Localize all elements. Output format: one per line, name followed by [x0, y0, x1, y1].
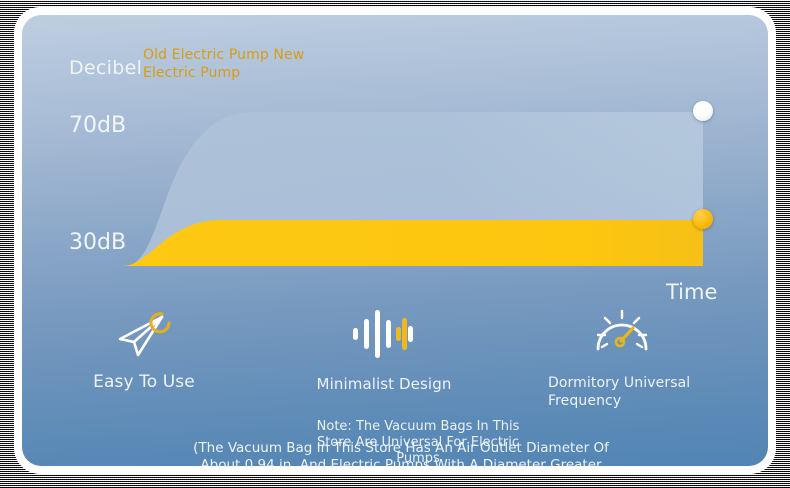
infographic-canvas: Decibel Old Electric Pump New Electric P…: [22, 15, 768, 466]
series-endpoint-marker-new-pump[interactable]: [693, 209, 713, 229]
audio-waveform-icon: [284, 303, 484, 365]
feature-label-easy-to-use: Easy To Use: [44, 373, 244, 391]
series-area-new-pump: [120, 220, 703, 266]
series-area-old-pump: [120, 112, 703, 266]
y-axis-tick-low: 30dB: [69, 230, 126, 255]
gauge-icon: [522, 303, 722, 365]
feature-row: Easy To Use: [22, 303, 768, 413]
white-card-frame: Decibel Old Electric Pump New Electric P…: [14, 7, 776, 474]
feature-label-dormitory-universal-frequency: Dormitory Universal Frequency: [548, 374, 696, 410]
paper-plane-icon: [44, 303, 244, 365]
chart-legend-label: Old Electric Pump New Electric Pump: [143, 46, 335, 82]
feature-label-minimalist-design: Minimalist Design: [284, 375, 484, 393]
x-axis-title: Time: [666, 280, 717, 304]
y-axis-tick-high: 70dB: [69, 113, 126, 138]
feature-item-minimalist-design: Minimalist Design: [284, 303, 484, 393]
y-axis-title: Decibel: [69, 57, 142, 79]
series-endpoint-marker-old-pump[interactable]: [693, 101, 713, 121]
note-secondary: (The Vacuum Bag In This Store Has An Air…: [191, 440, 611, 466]
product-infographic-screenshot: Decibel Old Electric Pump New Electric P…: [0, 0, 790, 488]
feature-item-dormitory-universal-frequency: Dormitory Universal Frequency: [522, 303, 722, 410]
feature-item-easy-to-use: Easy To Use: [44, 303, 244, 391]
